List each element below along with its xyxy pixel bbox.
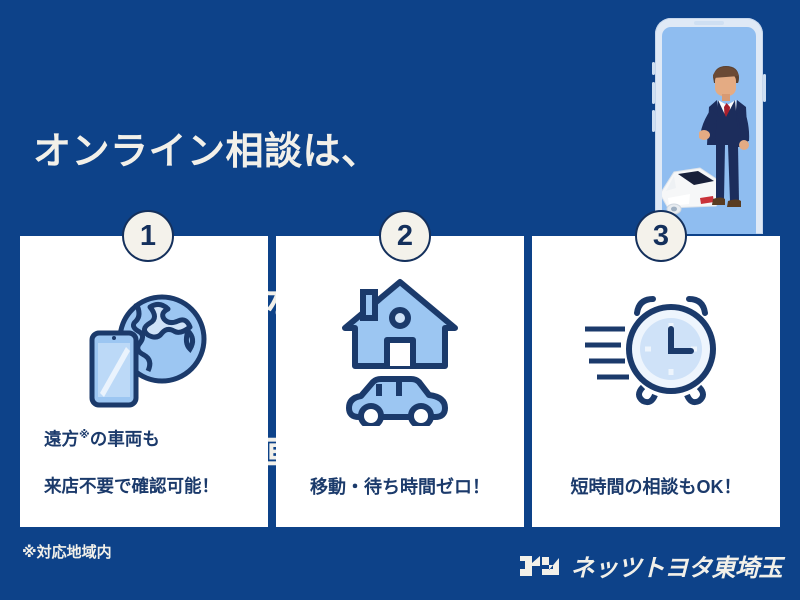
footnote: ※対応地域内	[22, 541, 112, 562]
headline-line-1: オンライン相談は、	[33, 127, 653, 178]
smartphone-globe-icon	[76, 287, 212, 413]
feature-card-3: 短時間の相談もOK！	[532, 236, 780, 527]
netz-n-mark-icon	[519, 555, 561, 577]
reference-mark: ※	[79, 429, 90, 441]
phone-notch	[694, 21, 724, 25]
brand-logo-text: ネッツトヨタ東埼玉	[571, 548, 783, 583]
brand-logo: ネッツトヨタ東埼玉	[519, 548, 783, 583]
house-and-car-icon	[335, 274, 465, 426]
card-3-caption: 短時間の相談もOK！	[532, 475, 780, 499]
phone-volume-up-button	[652, 82, 655, 104]
promo-banner: オンライン相談は、 経験知識豊富なスタッフが ビデオ通話で車両をご案内！	[0, 0, 800, 600]
feature-card-1: 遠方※の車両も 来店不要で確認可能！	[20, 236, 268, 527]
phone-shell	[655, 18, 763, 234]
card-1-caption: 遠方※の車両も 来店不要で確認可能！	[20, 405, 268, 500]
card-3-icon-wrap	[532, 270, 780, 430]
phone-power-button	[763, 74, 766, 102]
step-badge-3: 3	[635, 210, 687, 262]
phone-volume-down-button	[652, 110, 655, 132]
consultant-person-icon	[699, 59, 755, 219]
feature-card-2: 移動・待ち時間ゼロ！	[276, 236, 524, 527]
step-badge-2: 2	[379, 210, 431, 262]
card-1-caption-line1: 遠方※の車両も	[44, 429, 160, 449]
card-1-caption-line2: 来店不要で確認可能！	[44, 476, 219, 496]
step-badge-1: 1	[122, 210, 174, 262]
phone-screen	[662, 27, 756, 234]
alarm-clock-speed-icon	[581, 289, 731, 411]
phone-side-button	[652, 62, 655, 75]
card-2-icon-wrap	[276, 270, 524, 430]
smartphone-illustration	[655, 18, 763, 234]
card-2-caption: 移動・待ち時間ゼロ！	[276, 475, 524, 499]
